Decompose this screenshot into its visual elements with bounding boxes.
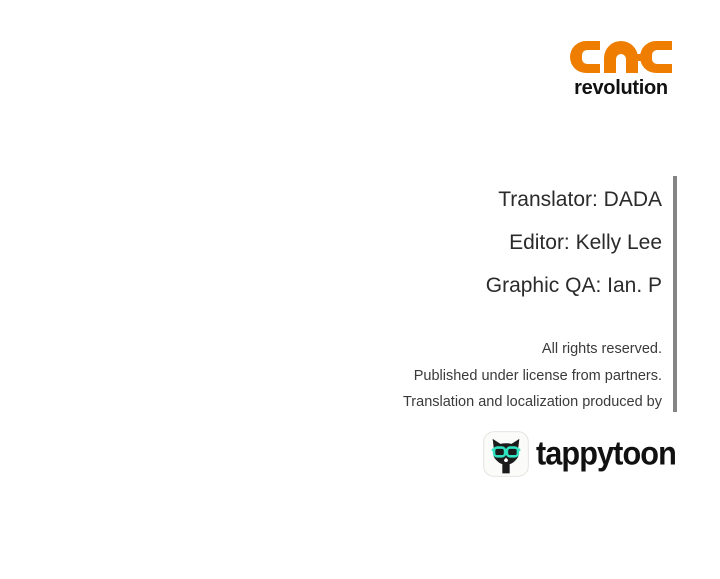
credit-line-editor: Editor: Kelly Lee: [300, 221, 662, 264]
cnc-wordmark-icon: [569, 40, 673, 74]
tappytoon-wordmark-icon: tappytoon: [536, 434, 675, 474]
credits-block: Translator: DADA Editor: Kelly Lee Graph…: [300, 178, 662, 307]
cnc-revolution-logo: revolution: [569, 40, 675, 100]
credit-line-graphic-qa: Graphic QA: Ian. P: [300, 264, 662, 307]
legal-line-produced-by: Translation and localization produced by: [300, 389, 662, 416]
vertical-rule: [673, 176, 677, 412]
credits-page: revolution Translator: DADA Editor: Kell…: [0, 0, 720, 579]
legal-line-license: Published under license from partners.: [300, 363, 662, 390]
cnc-revolution-subtitle: revolution: [569, 77, 673, 99]
svg-text:tappytoon: tappytoon: [536, 434, 675, 471]
cat-with-glasses-icon: [483, 431, 529, 477]
tappytoon-logo: tappytoon: [483, 429, 675, 479]
credit-line-translator: Translator: DADA: [300, 178, 662, 221]
legal-block: All rights reserved. Published under lic…: [300, 336, 662, 416]
legal-line-rights: All rights reserved.: [300, 336, 662, 363]
